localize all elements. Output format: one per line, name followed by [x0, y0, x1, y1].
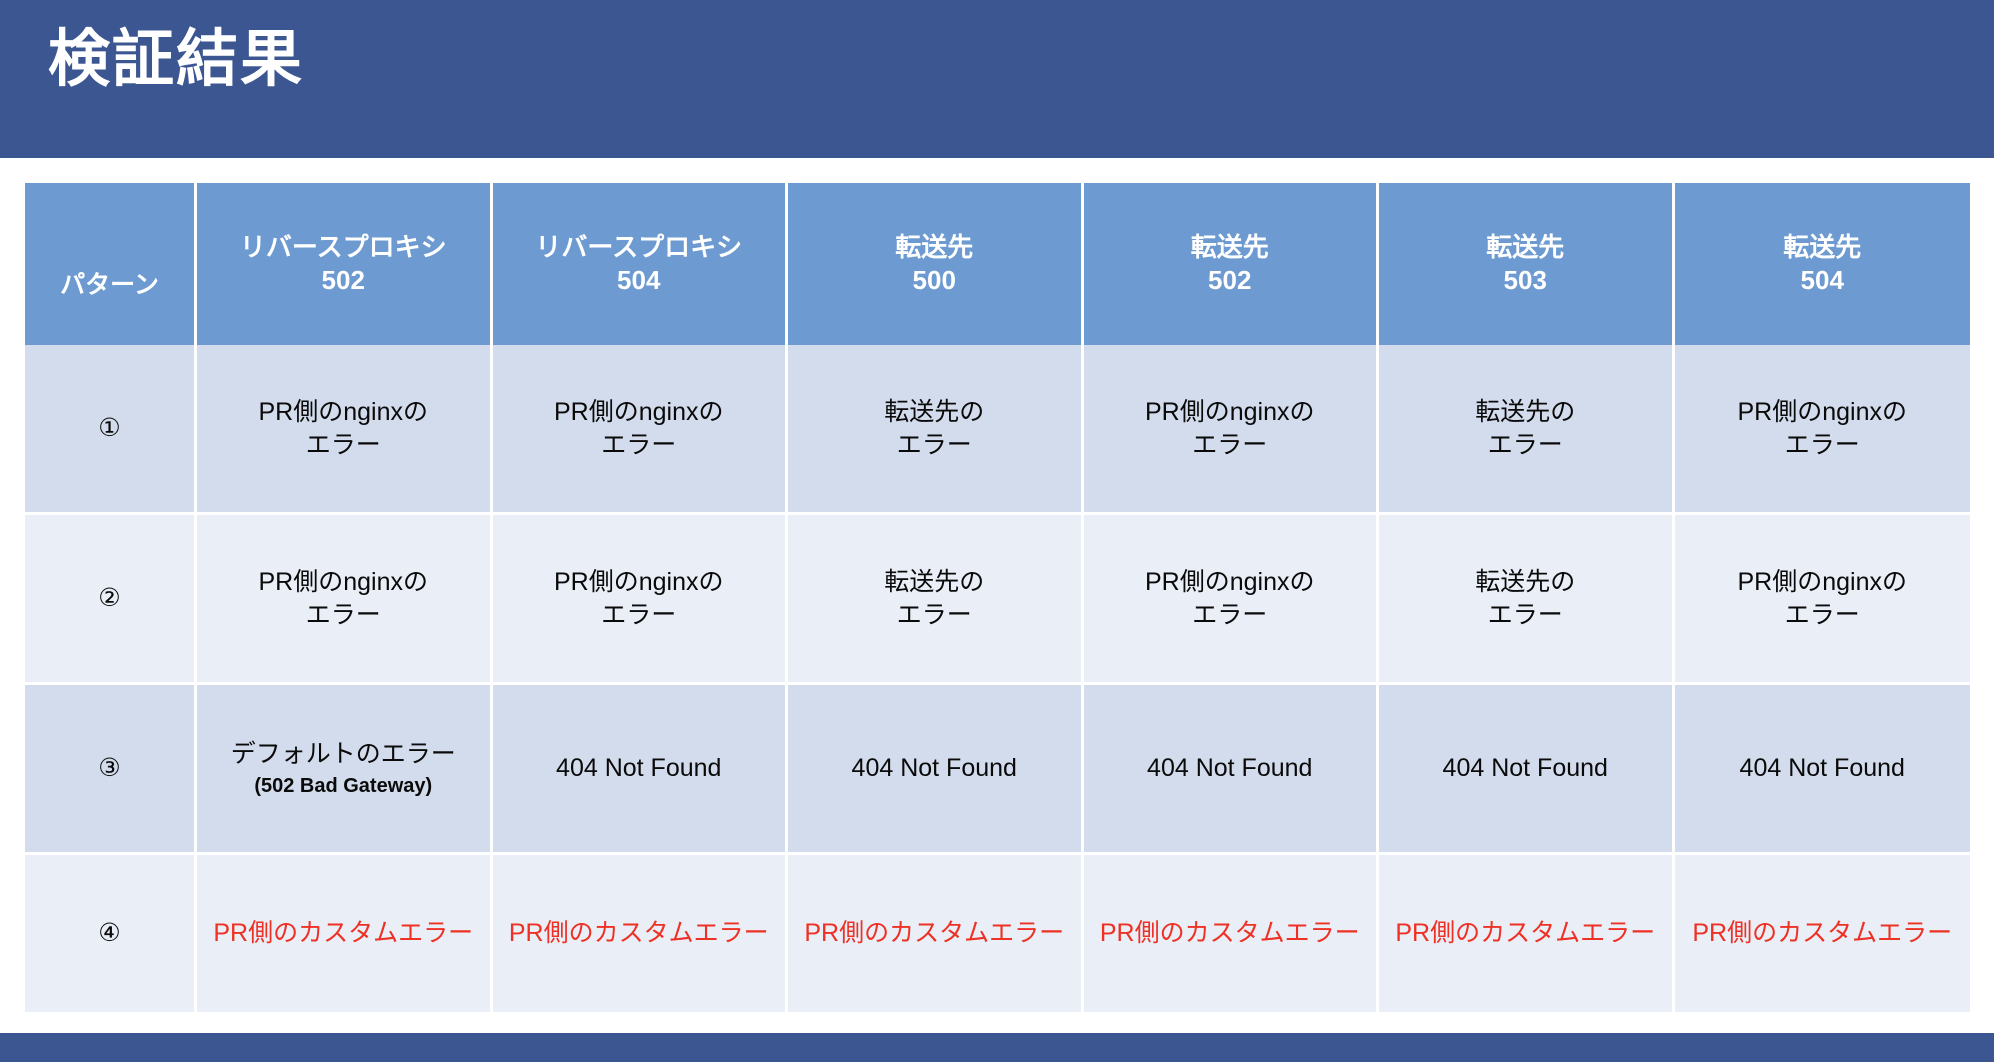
table-cell: 404 Not Found: [788, 685, 1084, 855]
cell-line-2: エラー: [499, 599, 780, 632]
column-header-destination-502: 転送先 502: [1084, 183, 1380, 345]
cell-line-1: PR側のnginxの: [1090, 396, 1371, 429]
cell-line-2: エラー: [1385, 599, 1666, 632]
column-header-label: リバースプロキシ: [240, 232, 447, 262]
column-header-code: 503: [1383, 264, 1668, 297]
column-header-label: 転送先: [1486, 232, 1564, 262]
column-header-reverse-proxy-504: リバースプロキシ 504: [493, 183, 789, 345]
column-header-reverse-proxy-502: リバースプロキシ 502: [197, 183, 493, 345]
column-header-code: 500: [792, 264, 1077, 297]
table-cell: PR側のカスタムエラー: [1084, 855, 1380, 1012]
cell-line-1: PR側のカスタムエラー: [203, 917, 484, 950]
cell-line-1: 404 Not Found: [499, 752, 780, 785]
cell-line-2: エラー: [203, 599, 484, 632]
table-body: ① PR側のnginxの エラー PR側のnginxの エラー 転送先の エラー: [25, 345, 1970, 1012]
cell-line-2: エラー: [1385, 429, 1666, 462]
table-cell: 転送先の エラー: [1379, 345, 1675, 515]
cell-line-1: PR側のカスタムエラー: [1385, 917, 1666, 950]
table-cell: PR側のnginxの エラー: [1084, 515, 1380, 685]
pattern-number: ②: [25, 515, 197, 685]
cell-line-2: エラー: [1681, 429, 1965, 462]
table-cell: 404 Not Found: [1379, 685, 1675, 855]
pattern-number: ③: [25, 685, 197, 855]
pattern-number: ④: [25, 855, 197, 1012]
cell-line-1: PR側のカスタムエラー: [1090, 917, 1371, 950]
table-cell: PR側のカスタムエラー: [1675, 855, 1971, 1012]
cell-line-1: PR側のnginxの: [1090, 566, 1371, 599]
table-cell: 404 Not Found: [1675, 685, 1971, 855]
cell-line-2: エラー: [1681, 599, 1965, 632]
table-cell: PR側のカスタムエラー: [493, 855, 789, 1012]
table-cell: PR側のnginxの エラー: [1675, 515, 1971, 685]
column-header-pattern: パターン: [25, 183, 197, 345]
table-cell: PR側のnginxの エラー: [1675, 345, 1971, 515]
slide-canvas: 検証結果 パターン リバースプロキシ 502: [0, 0, 1994, 1062]
table-row: ① PR側のnginxの エラー PR側のnginxの エラー 転送先の エラー: [25, 345, 1970, 515]
column-header-code: 504: [497, 264, 782, 297]
table-cell: PR側のカスタムエラー: [1379, 855, 1675, 1012]
slide-title-bar: 検証結果: [0, 0, 1994, 158]
column-header-label: 転送先: [1191, 232, 1269, 262]
column-header-pattern-label: パターン: [60, 271, 159, 299]
cell-line-2: エラー: [1090, 429, 1371, 462]
cell-line-1: PR側のnginxの: [499, 566, 780, 599]
table-row: ④ PR側のカスタムエラー PR側のカスタムエラー PR側のカスタムエラー PR…: [25, 855, 1970, 1012]
table-header: パターン リバースプロキシ 502 リバースプロキシ 504 転送先 500: [25, 183, 1970, 345]
column-header-destination-504: 転送先 504: [1675, 183, 1971, 345]
column-header-destination-500: 転送先 500: [788, 183, 1084, 345]
table-cell: PR側のnginxの エラー: [493, 515, 789, 685]
cell-line-1: デフォルトのエラー: [203, 738, 484, 771]
cell-line-1: PR側のnginxの: [203, 396, 484, 429]
table-cell: 404 Not Found: [1084, 685, 1380, 855]
table-row: ② PR側のnginxの エラー PR側のnginxの エラー 転送先の エラー: [25, 515, 1970, 685]
cell-line-2: エラー: [499, 429, 780, 462]
cell-line-1: PR側のカスタムエラー: [1681, 917, 1965, 950]
column-header-code: 502: [201, 264, 486, 297]
table-row: ③ デフォルトのエラー (502 Bad Gateway) 404 Not Fo…: [25, 685, 1970, 855]
table-cell: PR側のカスタムエラー: [197, 855, 493, 1012]
results-table-container: パターン リバースプロキシ 502 リバースプロキシ 504 転送先 500: [25, 183, 1970, 1012]
table-cell: PR側のnginxの エラー: [1084, 345, 1380, 515]
cell-line-2: エラー: [203, 429, 484, 462]
column-header-code: 502: [1088, 264, 1373, 297]
column-header-label: 転送先: [895, 232, 973, 262]
cell-line-1: 転送先の: [1385, 396, 1666, 429]
table-cell: PR側のnginxの エラー: [197, 345, 493, 515]
column-header-code: 504: [1679, 264, 1967, 297]
cell-line-1: PR側のnginxの: [1681, 566, 1965, 599]
column-header-destination-503: 転送先 503: [1379, 183, 1675, 345]
table-cell: PR側のnginxの エラー: [197, 515, 493, 685]
cell-line-1: 404 Not Found: [794, 752, 1075, 785]
cell-line-2: エラー: [1090, 599, 1371, 632]
cell-line-1: PR側のカスタムエラー: [794, 917, 1075, 950]
slide-footer-bar: [0, 1033, 1994, 1062]
cell-line-1: PR側のnginxの: [499, 396, 780, 429]
page-title: 検証結果: [48, 26, 304, 94]
table-cell: 404 Not Found: [493, 685, 789, 855]
cell-line-1: 転送先の: [794, 396, 1075, 429]
table-cell: 転送先の エラー: [788, 345, 1084, 515]
cell-line-2: エラー: [794, 599, 1075, 632]
cell-line-1: PR側のnginxの: [1681, 396, 1965, 429]
cell-line-1: PR側のカスタムエラー: [499, 917, 780, 950]
column-header-label: 転送先: [1783, 232, 1861, 262]
verification-results-table: パターン リバースプロキシ 502 リバースプロキシ 504 転送先 500: [25, 183, 1970, 1012]
table-cell: PR側のカスタムエラー: [788, 855, 1084, 1012]
cell-line-1: 転送先の: [794, 566, 1075, 599]
pattern-number: ①: [25, 345, 197, 515]
cell-line-1: 404 Not Found: [1090, 752, 1371, 785]
cell-line-2: エラー: [794, 429, 1075, 462]
table-header-row: パターン リバースプロキシ 502 リバースプロキシ 504 転送先 500: [25, 183, 1970, 345]
table-cell: PR側のnginxの エラー: [493, 345, 789, 515]
cell-line-1: 転送先の: [1385, 566, 1666, 599]
cell-line-1: 404 Not Found: [1681, 752, 1965, 785]
column-header-label: リバースプロキシ: [535, 232, 742, 262]
table-cell: 転送先の エラー: [788, 515, 1084, 685]
cell-line-1: PR側のnginxの: [203, 566, 484, 599]
cell-line-2: (502 Bad Gateway): [203, 773, 484, 799]
table-cell: デフォルトのエラー (502 Bad Gateway): [197, 685, 493, 855]
table-cell: 転送先の エラー: [1379, 515, 1675, 685]
cell-line-1: 404 Not Found: [1385, 752, 1666, 785]
